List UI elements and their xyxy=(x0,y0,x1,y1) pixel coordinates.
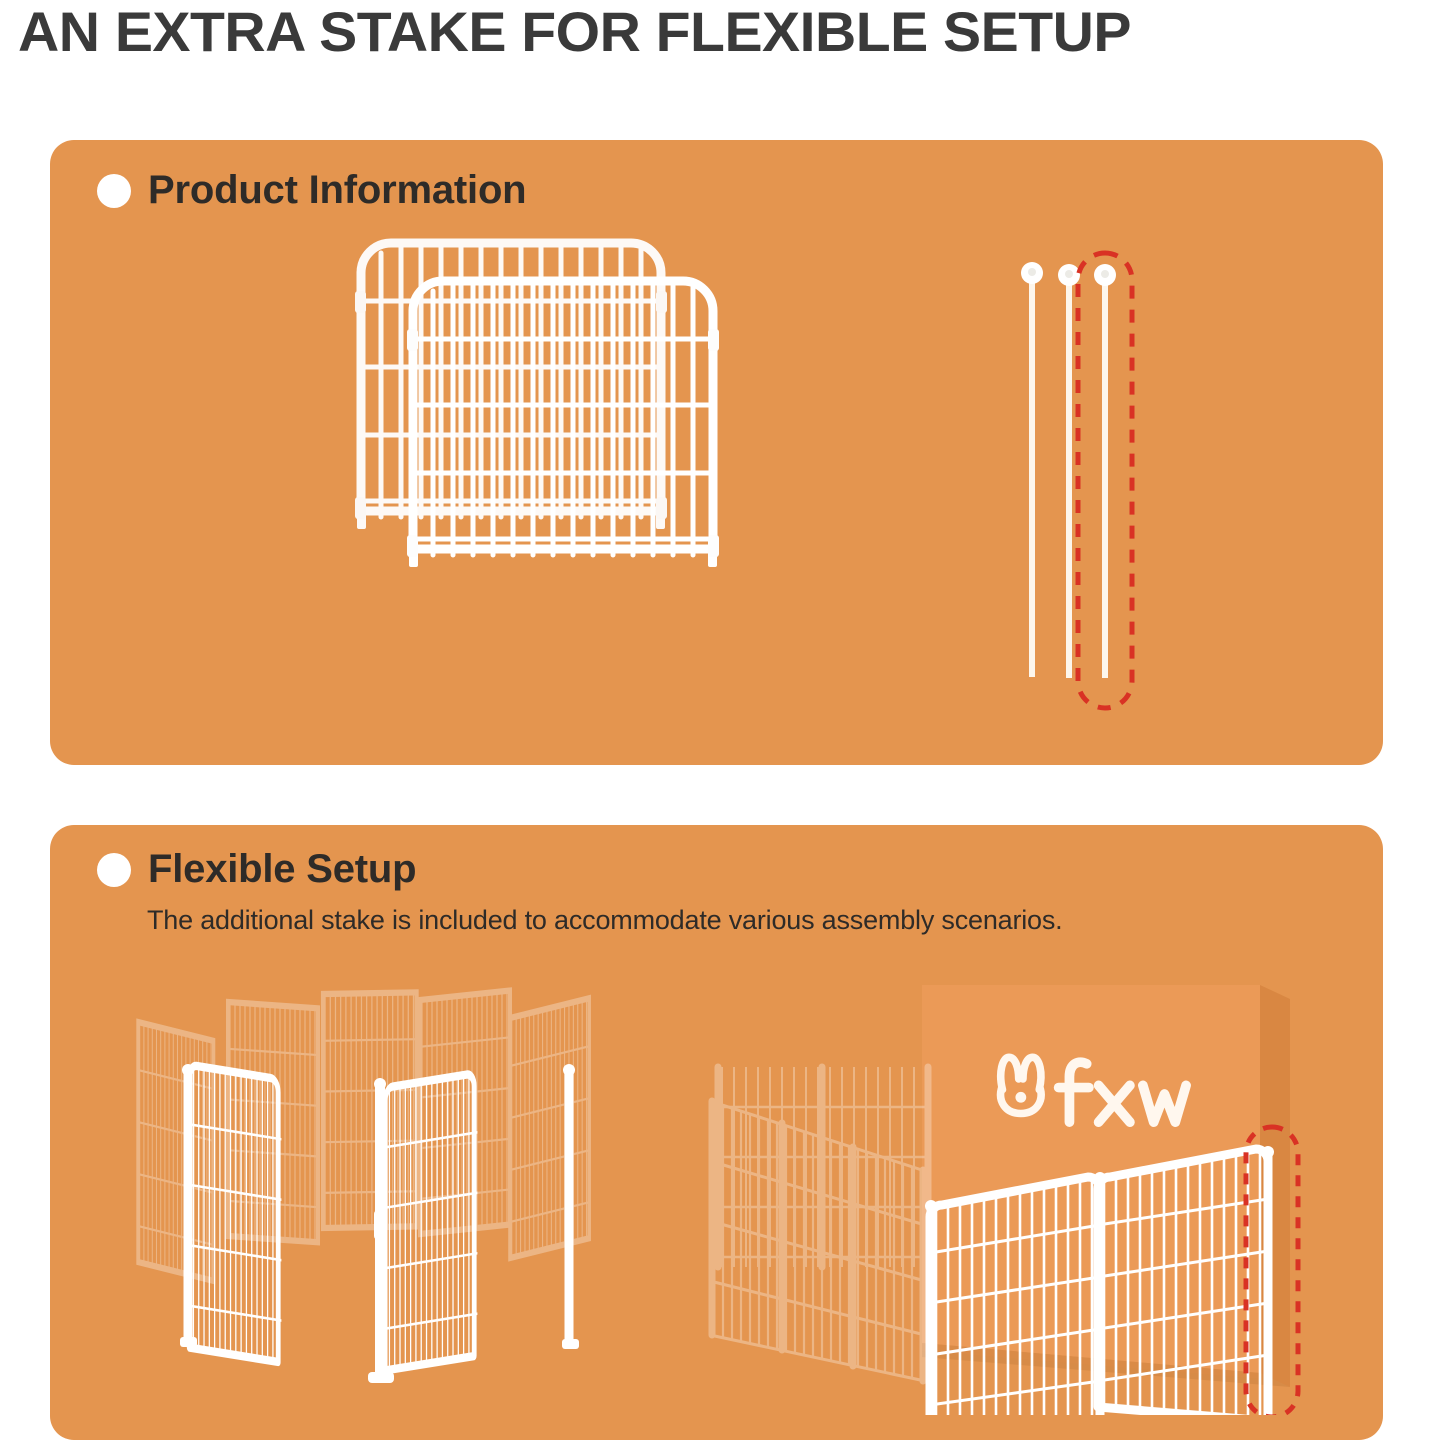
pen-left-post xyxy=(925,1200,937,1415)
octagon-back-panels xyxy=(138,991,589,1281)
card-title-text: Flexible Setup xyxy=(148,847,416,892)
stake-1 xyxy=(1021,262,1043,677)
product-information-card: Product Information xyxy=(50,140,1383,765)
flexible-setup-heading: Flexible Setup xyxy=(97,847,416,892)
bullet-dot-icon xyxy=(97,853,131,887)
product-information-heading: Product Information xyxy=(97,168,526,213)
flexible-setup-subtitle: The additional stake is included to acco… xyxy=(147,905,1062,936)
stake-3-highlighted xyxy=(1094,264,1116,678)
page-title: AN EXTRA STAKE FOR FLEXIBLE SETUP xyxy=(18,2,1131,62)
card-title-text: Product Information xyxy=(148,168,526,213)
pen-junction-post xyxy=(1094,1172,1106,1415)
bullet-dot-icon xyxy=(97,174,131,208)
octagon-front-left-panel xyxy=(186,1064,281,1362)
wire-fence-panels-illustration xyxy=(345,235,765,735)
pen-end-post-highlighted xyxy=(1262,1146,1274,1395)
octagon-center-foot xyxy=(368,1372,394,1383)
octagon-playpen-illustration xyxy=(110,980,630,1410)
ground-stakes-illustration xyxy=(970,245,1170,735)
dog-nose-icon xyxy=(1015,1092,1026,1103)
infographic-page: AN EXTRA STAKE FOR FLEXIBLE SETUP Produc… xyxy=(0,0,1432,1455)
octagon-center-post xyxy=(374,1078,386,1375)
octagon-front-right-panel xyxy=(382,1073,477,1371)
stake-2 xyxy=(1058,264,1080,678)
l-shaped-pen-against-wall-illustration xyxy=(700,975,1360,1415)
flexible-setup-card: Flexible Setup The additional stake is i… xyxy=(50,825,1383,1440)
pen-back-panels xyxy=(710,1067,928,1381)
